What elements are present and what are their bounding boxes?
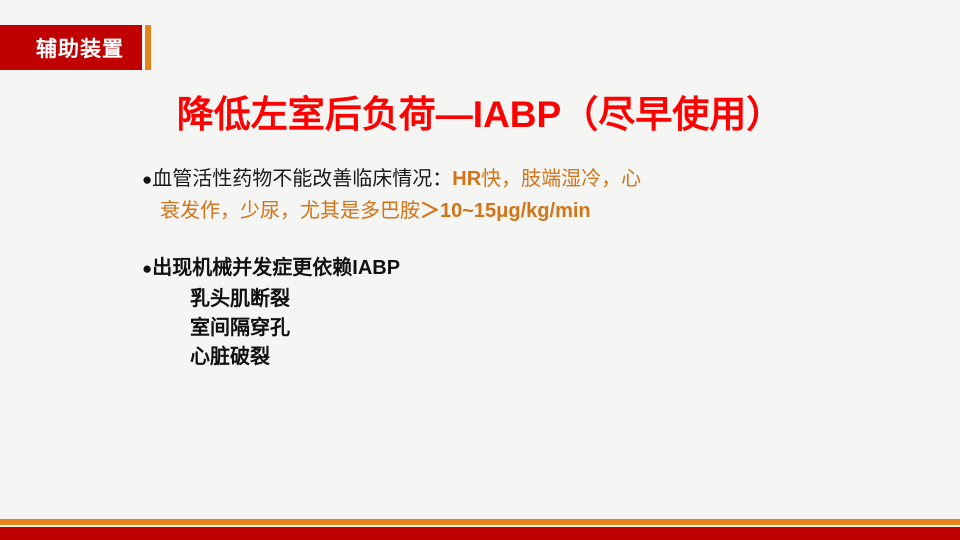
content-bullet-1: ●血管活性药物不能改善临床情况：HR快，肢端湿冷，心 衰发作，少尿，尤其是多巴胺… <box>142 164 842 227</box>
slide-canvas: 辅助装置 降低左室后负荷—IABP（尽早使用） ●血管活性药物不能改善临床情况：… <box>0 0 960 540</box>
content-bullet-2: ●出现机械并发症更依赖IABP 乳头肌断裂 室间隔穿孔 心脏破裂 <box>142 253 842 372</box>
bullet-2-heading: ●出现机械并发症更依赖IABP <box>142 253 842 284</box>
header-badge-label: 辅助装置 <box>36 33 124 63</box>
bullet-1-highlight-text: 快，肢端湿冷，心 <box>481 168 641 190</box>
bullet-marker-1: ● <box>142 170 152 189</box>
list-item: 心脏破裂 <box>142 343 842 372</box>
bullet-1-line-2-text: 衰发作，少尿，尤其是多巴胺 <box>160 200 420 222</box>
bullet-marker-2: ● <box>142 259 152 278</box>
bullet-1-paragraph: ●血管活性药物不能改善临床情况：HR快，肢端湿冷，心 衰发作，少尿，尤其是多巴胺… <box>142 164 842 227</box>
bullet-1-highlight-abbr: HR <box>452 168 481 190</box>
footer-red-bar <box>0 527 960 540</box>
bullet-1-line-2: 衰发作，少尿，尤其是多巴胺＞10~15μg/kg/min <box>142 196 842 227</box>
list-item: 乳头肌断裂 <box>142 285 842 314</box>
header-badge: 辅助装置 <box>0 25 142 70</box>
bullet-1-dose: 10~15μg/kg/min <box>440 200 591 222</box>
list-item: 室间隔穿孔 <box>142 314 842 343</box>
bullet-2-sub-list: 乳头肌断裂 室间隔穿孔 心脏破裂 <box>142 285 842 372</box>
bullet-1-lead-text: 血管活性药物不能改善临床情况： <box>152 168 452 190</box>
header-accent-bar <box>145 25 151 70</box>
page-title: 降低左室后负荷—IABP（尽早使用） <box>0 93 960 137</box>
bullet-1-operator: ＞ <box>420 200 440 222</box>
bullet-2-text: 出现机械并发症更依赖IABP <box>152 257 400 279</box>
